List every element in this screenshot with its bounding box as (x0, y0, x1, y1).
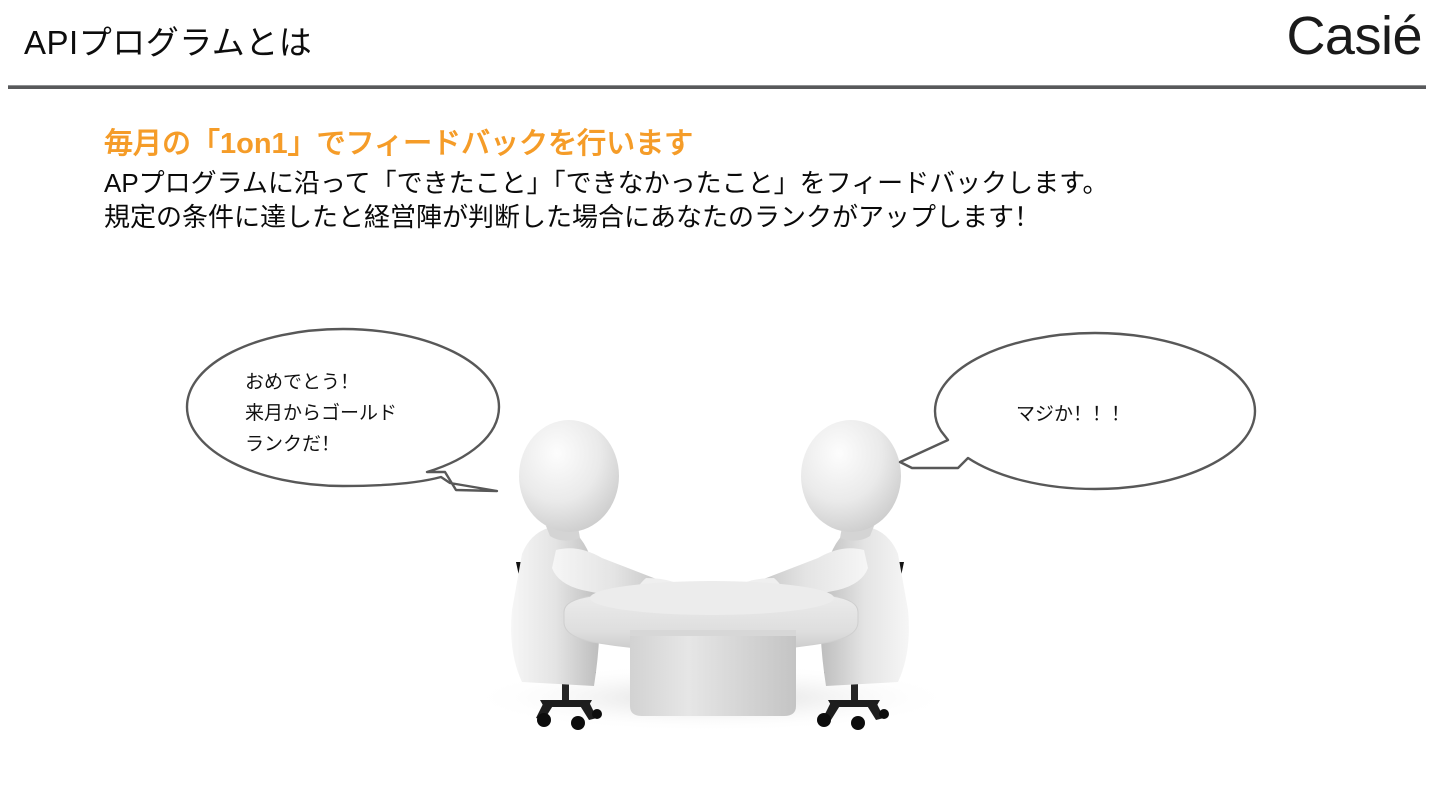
content-block: 毎月の「1on1」でフィードバックを行います APプログラムに沿って「できたこと… (104, 126, 1304, 235)
brand-logo: Casié (1286, 5, 1422, 67)
speech-bubble-right (900, 333, 1255, 489)
page-title: APIプログラムとは (24, 16, 312, 64)
header-divider (8, 85, 1426, 89)
body-line-1: APプログラムに沿って「できたこと」「できなかったこと」をフィードバックします。 (104, 166, 1304, 200)
speech-bubble-left (187, 329, 499, 491)
section-heading: 毎月の「1on1」でフィードバックを行います (104, 126, 1304, 163)
body-line-2: 規定の条件に達したと経営陣が判断した場合にあなたのランクがアップします！ (104, 200, 1304, 234)
speech-bubbles (0, 300, 1440, 806)
illustration-area: おめでとう！ 来月からゴールド ランクだ！ マジか！！！ (0, 300, 1440, 806)
slide-header: APIプログラムとは Casié (0, 0, 1440, 92)
